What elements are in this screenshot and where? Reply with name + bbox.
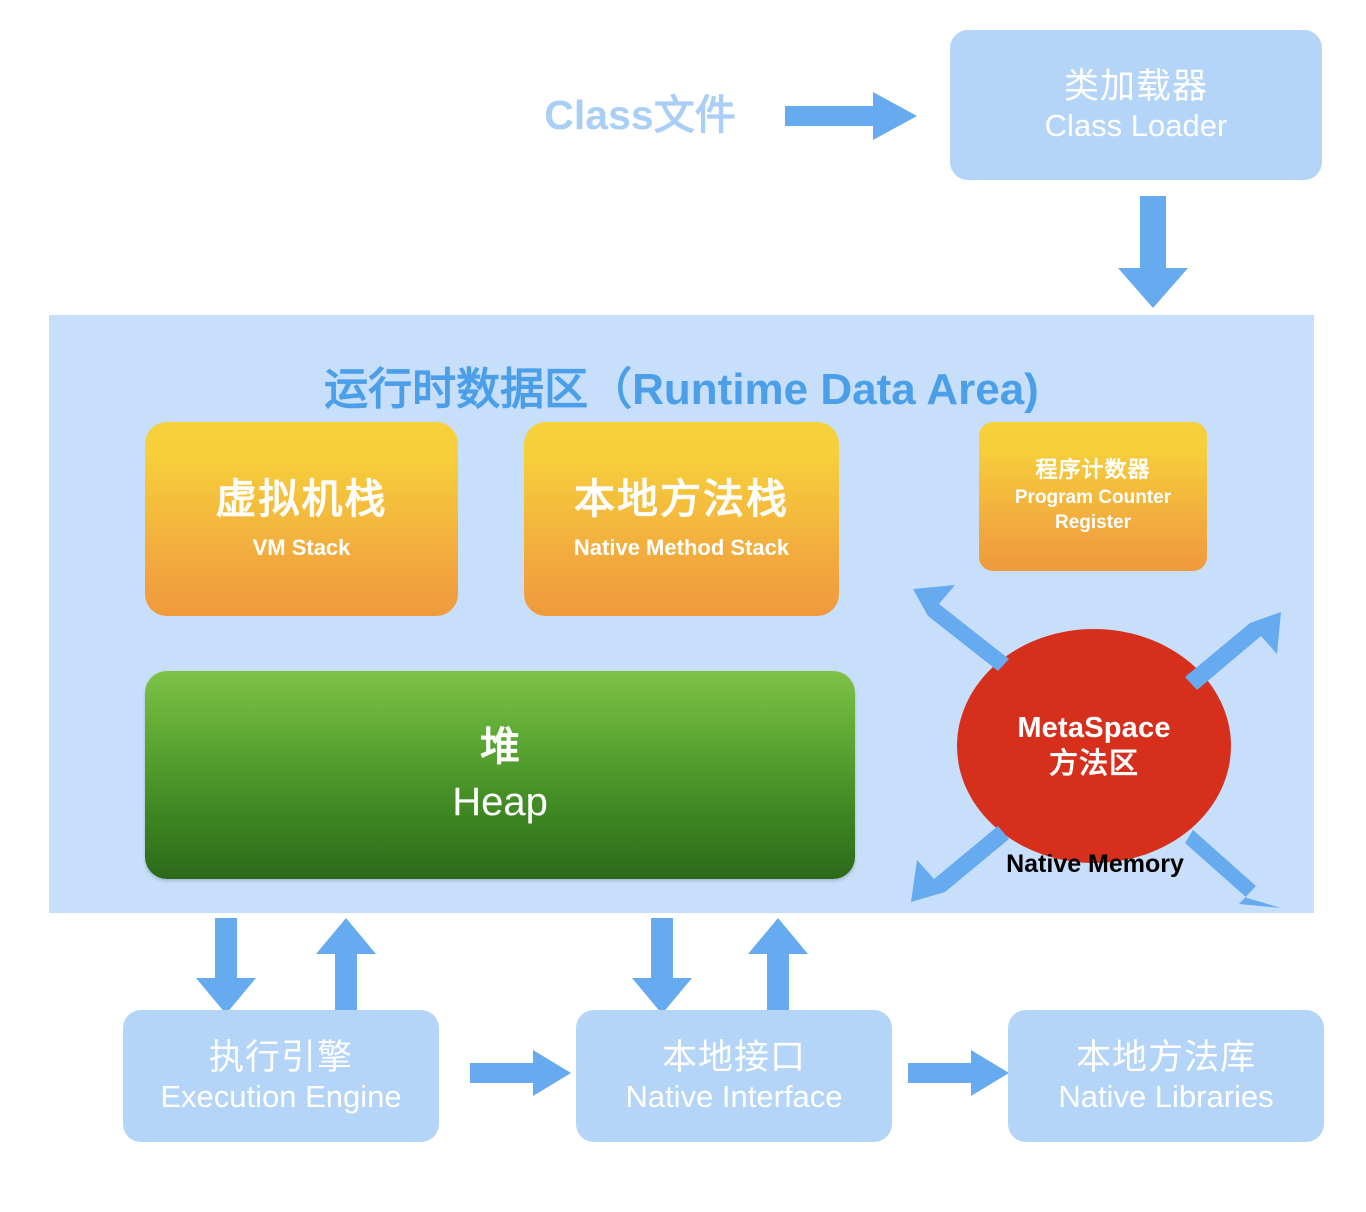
program-counter-register-box[interactable]: 程序计数器 Program Counter Register (979, 422, 1207, 571)
class-loader-box[interactable]: 类加载器 Class Loader (950, 30, 1322, 180)
heap-en-label: Heap (452, 780, 548, 825)
execution-engine-cn-label: 执行引擎 (209, 1038, 353, 1077)
class-file-text: Class文件 (544, 93, 735, 139)
arrow-native-interface-to-native-libraries (908, 1050, 1009, 1096)
arrow-class-loader-to-runtime-area (1118, 196, 1188, 308)
vm-stack-cn-label: 虚拟机栈 (216, 477, 388, 523)
vm-stack-box[interactable]: 虚拟机栈 VM Stack (145, 422, 458, 616)
arrow-metaspace-upper-left (913, 585, 1009, 671)
arrow-native-interface-to-runtime (748, 918, 808, 1014)
runtime-data-area-title: 运行时数据区（Runtime Data Area) (49, 353, 1314, 417)
pc-register-en-line1: Program Counter (1015, 486, 1171, 511)
pc-register-en-line2: Register (1055, 511, 1131, 536)
arrow-execution-engine-to-runtime (316, 918, 376, 1014)
native-interface-en-label: Native Interface (625, 1080, 842, 1115)
native-method-stack-en-label: Native Method Stack (574, 536, 789, 561)
arrow-metaspace-upper-right (1185, 610, 1281, 690)
arrow-metaspace-lower-left (911, 826, 1009, 908)
jvm-architecture-diagram: Class文件 类加载器 Class Loader 运行时数据区（Runtime… (0, 0, 1366, 1212)
execution-engine-box[interactable]: 执行引擎 Execution Engine (123, 1010, 439, 1142)
native-libraries-en-label: Native Libraries (1058, 1080, 1273, 1115)
pc-register-cn-label: 程序计数器 (1035, 458, 1150, 483)
arrow-runtime-to-execution-engine (196, 918, 256, 1014)
native-interface-box[interactable]: 本地接口 Native Interface (576, 1010, 892, 1142)
arrow-metaspace-lower-right (1185, 830, 1281, 912)
runtime-data-area-panel: 运行时数据区（Runtime Data Area) 虚拟机栈 VM Stack … (49, 315, 1314, 913)
native-memory-label: Native Memory (990, 850, 1200, 879)
class-loader-cn-label: 类加载器 (1064, 67, 1208, 106)
arrow-execution-engine-to-native-interface (470, 1050, 571, 1096)
class-file-label: Class文件 (500, 88, 780, 144)
arrow-class-file-to-class-loader (785, 92, 917, 140)
arrow-runtime-to-native-interface (632, 918, 692, 1014)
heap-cn-label: 堆 (480, 725, 520, 770)
native-libraries-box[interactable]: 本地方法库 Native Libraries (1008, 1010, 1324, 1142)
class-loader-en-label: Class Loader (1045, 109, 1228, 144)
native-method-stack-box[interactable]: 本地方法栈 Native Method Stack (524, 422, 839, 616)
native-interface-cn-label: 本地接口 (662, 1038, 806, 1077)
native-method-stack-cn-label: 本地方法栈 (574, 477, 789, 523)
metaspace-cn-label: 方法区 (1049, 748, 1139, 780)
execution-engine-en-label: Execution Engine (160, 1080, 401, 1115)
vm-stack-en-label: VM Stack (253, 536, 351, 561)
heap-box[interactable]: 堆 Heap (145, 671, 855, 879)
native-libraries-cn-label: 本地方法库 (1076, 1038, 1256, 1077)
metaspace-en-label: MetaSpace (1017, 712, 1170, 744)
